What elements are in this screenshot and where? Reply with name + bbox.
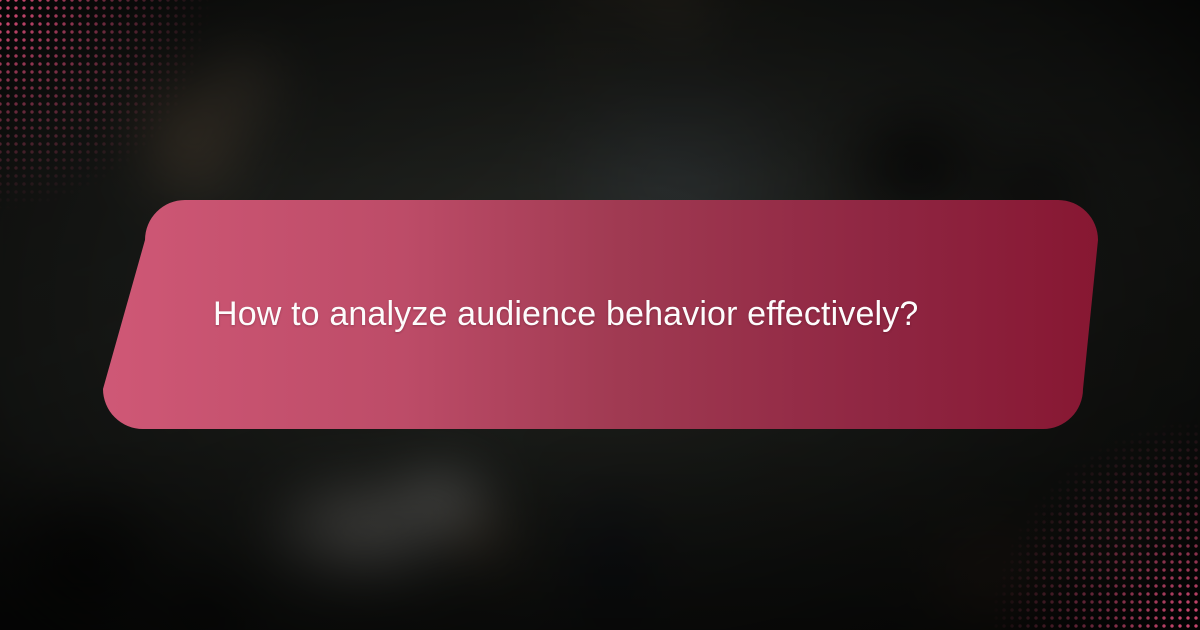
title-banner: How to analyze audience behavior effecti…: [100, 200, 1100, 429]
page-title: How to analyze audience behavior effecti…: [213, 200, 918, 429]
share-card: How to analyze audience behavior effecti…: [0, 0, 1200, 630]
